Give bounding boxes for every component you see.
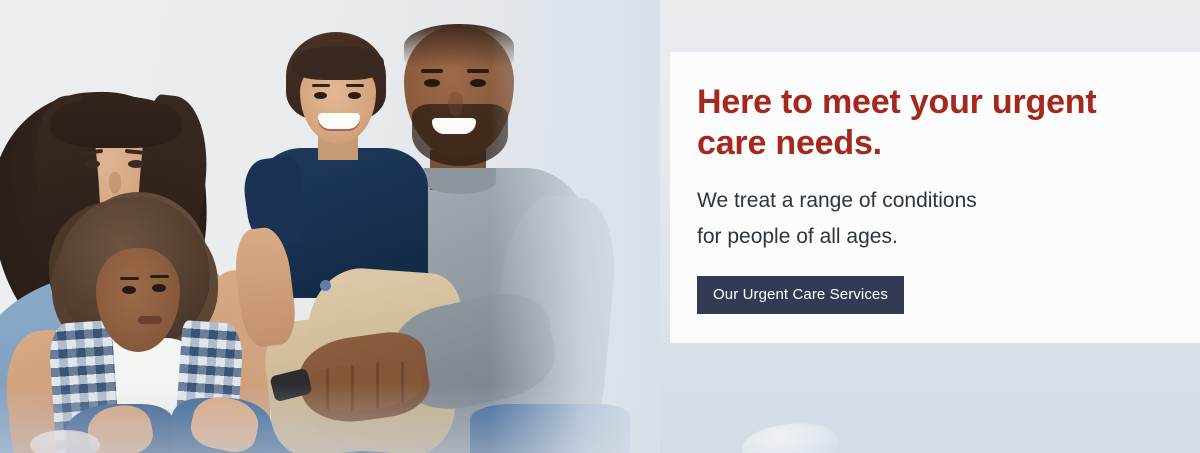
hero-content-panel: Here to meet your urgent care needs. We … bbox=[670, 52, 1200, 343]
urgent-care-hero-banner: Here to meet your urgent care needs. We … bbox=[0, 0, 1200, 453]
father-eye-left bbox=[424, 79, 440, 87]
father-sweater-collar bbox=[424, 168, 496, 194]
page-title: Here to meet your urgent care needs. bbox=[697, 82, 1157, 164]
floor-object bbox=[740, 419, 840, 453]
girl-eyebrow-right bbox=[150, 275, 169, 278]
boy-eye-right bbox=[348, 92, 361, 99]
girl-eyebrow-left bbox=[120, 277, 139, 280]
boy-hair-fringe bbox=[292, 46, 384, 80]
mother-nose bbox=[109, 172, 121, 194]
father-eyebrow-right bbox=[467, 69, 489, 73]
photo-right-fade bbox=[490, 0, 660, 453]
boy-pants-button bbox=[320, 280, 331, 291]
girl-eye-left bbox=[122, 286, 136, 294]
boy-eyebrow-right bbox=[346, 84, 364, 87]
girl-eye-right bbox=[152, 284, 166, 292]
family-photo bbox=[0, 0, 660, 453]
boy-eyebrow-left bbox=[312, 84, 330, 87]
mother-hair-fringe bbox=[50, 96, 182, 148]
boy-smile bbox=[318, 113, 360, 129]
girl-mouth bbox=[138, 316, 162, 324]
father-smile bbox=[432, 118, 476, 134]
mother-eye-right bbox=[128, 160, 144, 168]
hero-subcopy-line-2: for people of all ages. bbox=[697, 219, 1127, 255]
hero-subcopy-line-1: We treat a range of conditions bbox=[697, 183, 1127, 219]
hero-subcopy: We treat a range of conditions for peopl… bbox=[697, 183, 1127, 255]
father-eyebrow-left bbox=[421, 69, 443, 73]
mother-eye-left bbox=[84, 160, 100, 168]
father-nose bbox=[448, 92, 463, 116]
father-eye-right bbox=[470, 79, 486, 87]
boy-eye-left bbox=[314, 92, 327, 99]
urgent-care-services-button[interactable]: Our Urgent Care Services bbox=[697, 276, 904, 314]
